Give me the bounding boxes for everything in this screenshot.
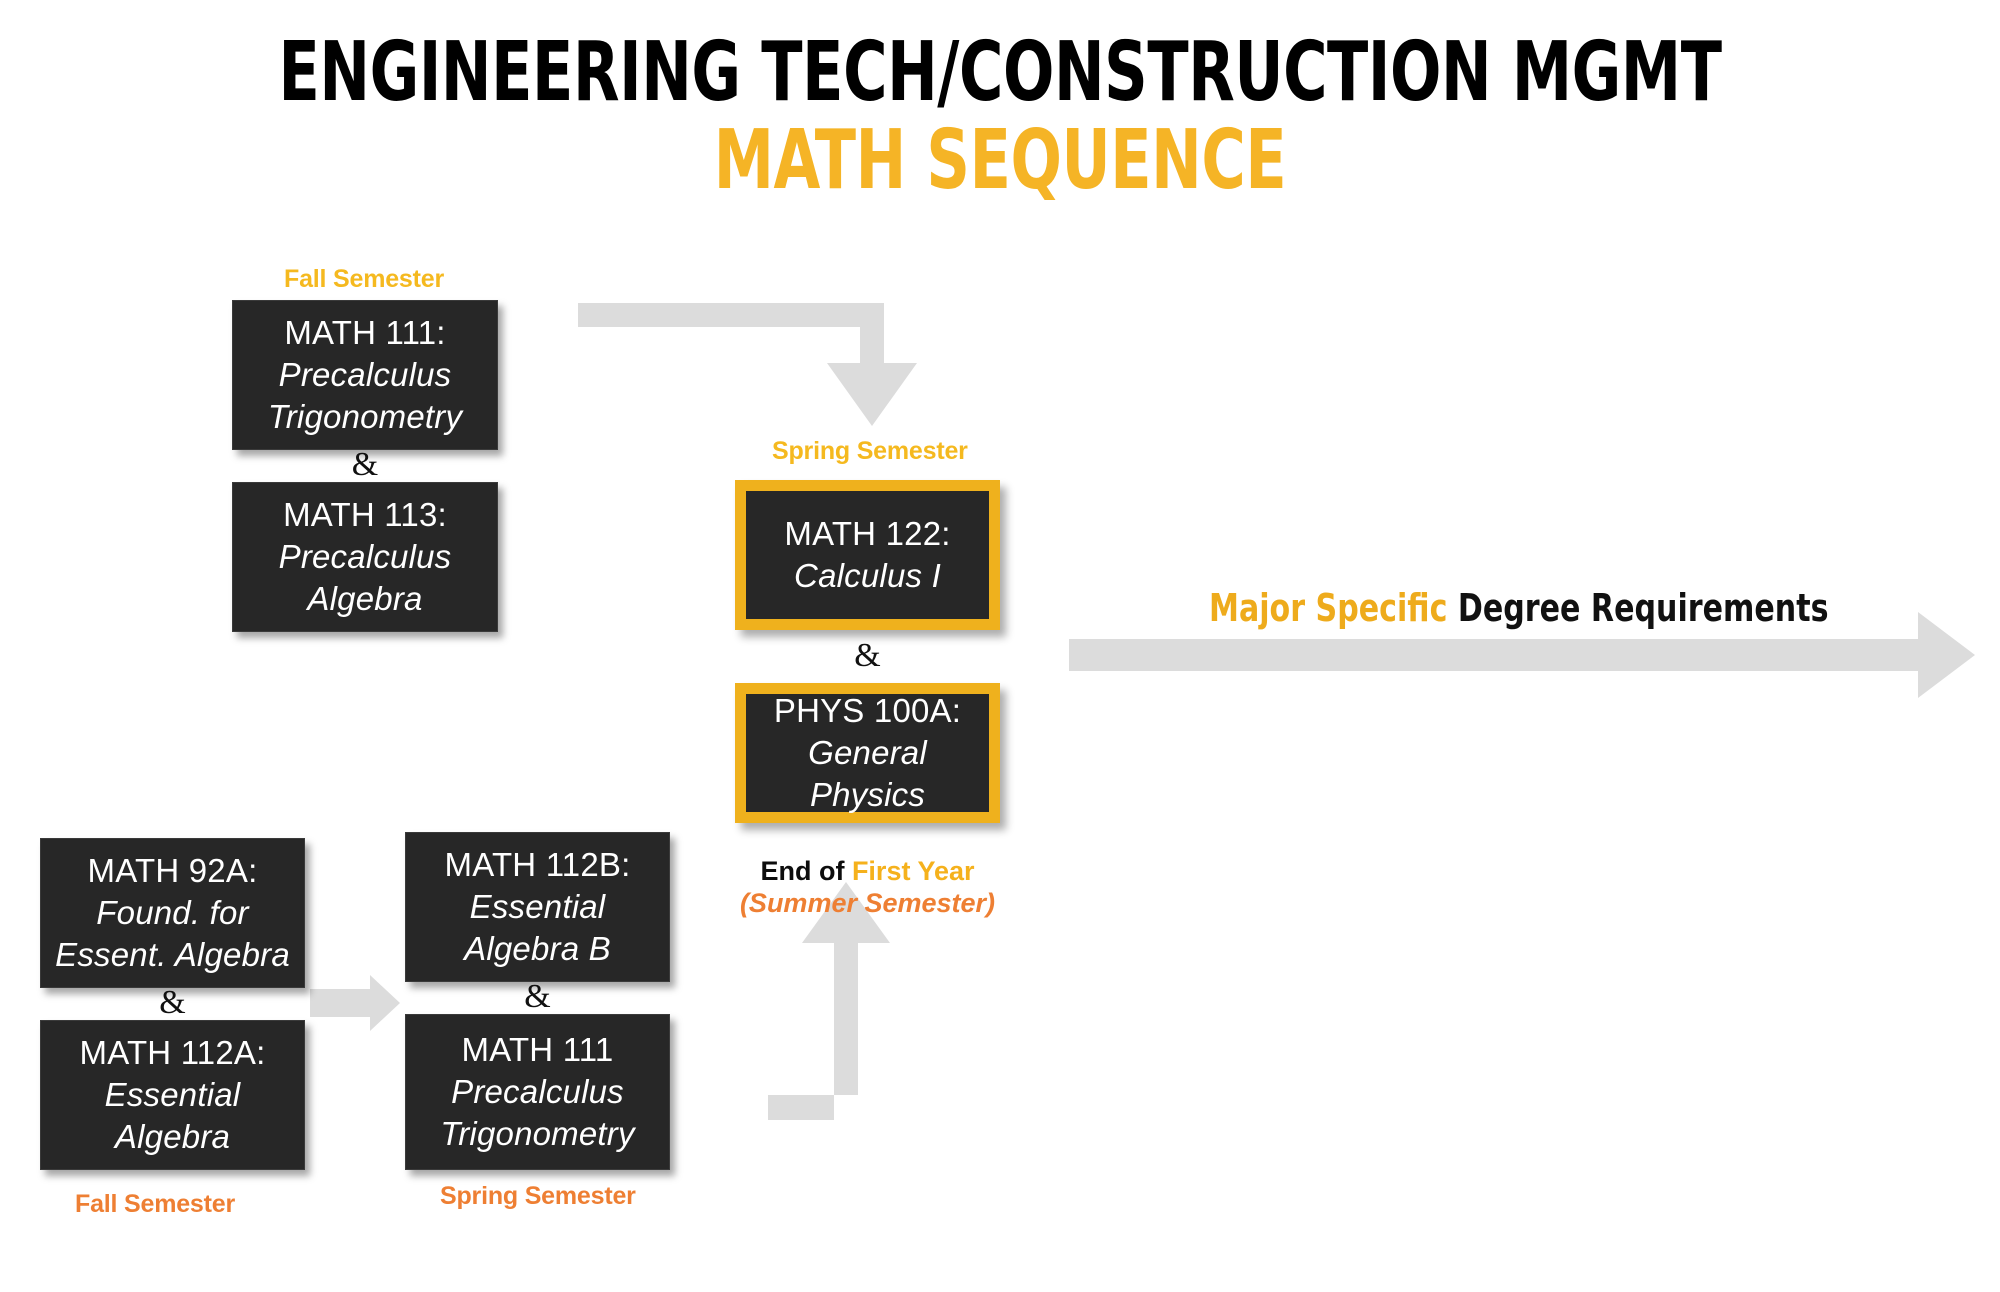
title-line-2: MATH SEQUENCE <box>180 122 1820 200</box>
end-of-year-line-1: End of First Year <box>735 856 1000 888</box>
course-box-math-111-bottom[interactable]: MATH 111 Precalculus Trigonometry <box>405 1014 670 1170</box>
ampersand-remedial-spring-group: & <box>405 978 670 1016</box>
label-fall-semester-top: Fall Semester <box>284 265 444 294</box>
course-name-line-1: Found. for <box>96 892 248 934</box>
ampersand-fall-group: & <box>232 446 498 484</box>
course-name-line-1: Precalculus <box>279 536 452 578</box>
course-name-line-1: General Physics <box>746 732 989 816</box>
page-title: ENGINEERING TECH/CONSTRUCTION MGMT MATH … <box>0 34 2000 200</box>
course-name-line-2: Algebra <box>307 578 422 620</box>
course-box-math-111-top[interactable]: MATH 111: Precalculus Trigonometry <box>232 300 498 450</box>
label-fall-semester-bottom: Fall Semester <box>75 1190 235 1219</box>
course-box-math-122[interactable]: MATH 122: Calculus I <box>735 480 1000 630</box>
course-box-math-113[interactable]: MATH 113: Precalculus Algebra <box>232 482 498 632</box>
degree-requirements-highlight: Major Specific <box>1209 586 1447 630</box>
course-name-line-2: Essent. Algebra <box>55 934 290 976</box>
diagram-canvas: ENGINEERING TECH/CONSTRUCTION MGMT MATH … <box>0 0 2000 1292</box>
course-code: MATH 111: <box>284 312 445 354</box>
course-code: MATH 92A: <box>88 850 258 892</box>
course-name-line-1: Essential <box>105 1074 241 1116</box>
course-code: MATH 112A: <box>80 1032 266 1074</box>
course-box-inner: PHYS 100A: General Physics <box>746 694 989 812</box>
end-of-year-subnote: (Summer Semester) <box>735 888 1000 920</box>
course-name-line-2: Algebra B <box>464 928 611 970</box>
end-of-first-year-note: End of First Year (Summer Semester) <box>735 856 1000 920</box>
course-code: MATH 111 <box>462 1029 614 1071</box>
course-name-line-1: Precalculus <box>279 354 452 396</box>
arrow-remedial-fall-to-spring <box>310 975 400 1031</box>
course-code: MATH 112B: <box>445 844 631 886</box>
ampersand-spring-group: & <box>735 637 1000 675</box>
course-code: PHYS 100A: <box>774 690 961 732</box>
ampersand-remedial-fall-group: & <box>40 984 305 1022</box>
label-spring-semester-middle: Spring Semester <box>772 437 968 466</box>
course-name-line-2: Algebra <box>115 1116 230 1158</box>
degree-requirements-label: Major Specific Degree Requirements <box>1209 586 1829 630</box>
course-name-line-2: Trigonometry <box>268 396 462 438</box>
end-of-year-prefix: End of <box>760 856 851 886</box>
course-name-line-1: Essential <box>470 886 606 928</box>
end-of-year-highlight: First Year <box>852 856 975 886</box>
label-spring-semester-bottom: Spring Semester <box>440 1182 636 1211</box>
course-box-inner: MATH 122: Calculus I <box>746 491 989 619</box>
course-box-math-112b[interactable]: MATH 112B: Essential Algebra B <box>405 832 670 982</box>
course-box-phys-100a[interactable]: PHYS 100A: General Physics <box>735 683 1000 823</box>
course-box-math-92a[interactable]: MATH 92A: Found. for Essent. Algebra <box>40 838 305 988</box>
course-name-line-2: Trigonometry <box>440 1113 634 1155</box>
course-name-line-1: Precalculus <box>451 1071 624 1113</box>
degree-requirements-rest: Degree Requirements <box>1447 586 1828 630</box>
course-name-line-1: Calculus I <box>794 555 941 597</box>
course-box-math-112a[interactable]: MATH 112A: Essential Algebra <box>40 1020 305 1170</box>
title-line-1: ENGINEERING TECH/CONSTRUCTION MGMT <box>180 34 1820 112</box>
course-code: MATH 113: <box>283 494 447 536</box>
arrow-fall-to-spring <box>578 303 917 426</box>
course-code: MATH 122: <box>784 513 950 555</box>
